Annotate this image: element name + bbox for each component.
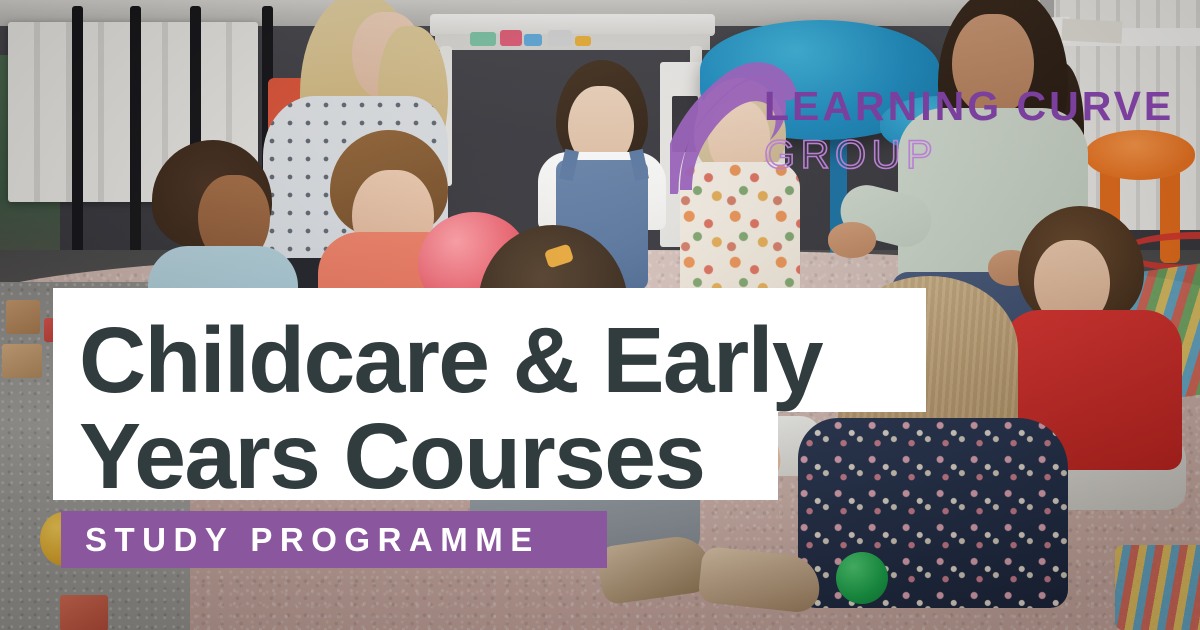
wooden-block <box>2 344 42 378</box>
brand-wordmark: LEARNING CURVE GROUP <box>764 86 1174 175</box>
brand-logo[interactable]: LEARNING CURVE GROUP <box>660 48 1130 198</box>
toy-block <box>548 30 572 46</box>
toy-block <box>575 36 591 46</box>
headline-box-line1: Childcare & Early <box>53 288 926 412</box>
course-promo-banner: LEARNING CURVE GROUP Childcare & Early Y… <box>0 0 1200 630</box>
red-block <box>60 595 108 630</box>
subtitle-band: STUDY PROGRAMME <box>61 511 607 568</box>
brand-name-line1: LEARNING CURVE <box>764 86 1174 127</box>
toy-block <box>500 30 522 46</box>
toy-block <box>524 34 542 46</box>
page-title-line2: Years Courses <box>79 410 704 503</box>
toy-block <box>470 32 496 46</box>
headline-box-line2: Years Courses <box>53 412 778 500</box>
paper-sheet <box>1061 18 1122 43</box>
colour-mat <box>1115 545 1200 630</box>
subtitle-label: STUDY PROGRAMME <box>85 521 540 559</box>
brand-name-line2: GROUP <box>764 135 1174 175</box>
wooden-block <box>6 300 40 334</box>
green-ball <box>836 552 888 604</box>
practitioner-hand <box>828 222 876 258</box>
page-title-line1: Childcare & Early <box>79 314 822 407</box>
